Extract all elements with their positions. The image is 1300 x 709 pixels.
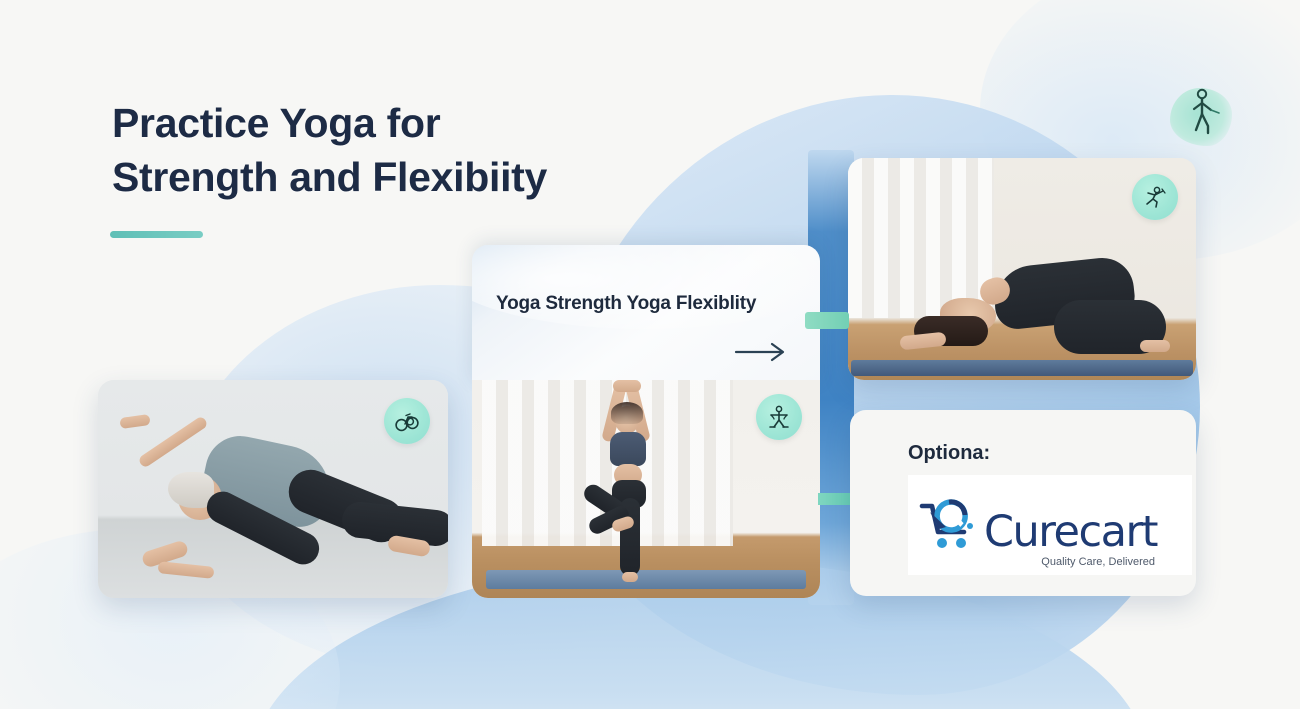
standing-person-icon — [766, 404, 792, 430]
optional-logo-card[interactable]: Optiona: Curecart Quality Care, Delivere… — [850, 410, 1196, 596]
card-sheen — [472, 245, 820, 329]
cycling-icon — [394, 408, 420, 434]
tree-pose-photo[interactable] — [472, 380, 820, 598]
running-person-icon-badge — [1132, 174, 1178, 220]
center-card-title: Yoga Strength Yoga Flexiblity — [496, 293, 756, 315]
walking-person-icon — [1186, 86, 1226, 138]
connector-chip — [805, 312, 849, 329]
brand-name: Curecart — [984, 511, 1157, 554]
brand-logo-plate: Curecart Quality Care, Delivered — [908, 475, 1192, 575]
fish-pose-photo[interactable] — [848, 158, 1196, 380]
cycling-icon-badge — [384, 398, 430, 444]
standing-person-icon-badge — [756, 394, 802, 440]
page-title: Practice Yoga for Strength and Flexibiit… — [112, 96, 547, 204]
optional-label: Optiona: — [908, 442, 990, 465]
arrow-right-icon[interactable] — [734, 341, 790, 363]
running-person-icon — [1142, 184, 1168, 210]
center-info-card[interactable]: Yoga Strength Yoga Flexiblity — [472, 245, 820, 385]
brand-tagline: Quality Care, Delivered — [1041, 556, 1155, 568]
senior-woman-side-bend-photo[interactable] — [98, 380, 448, 598]
shopping-cart-c-icon — [918, 496, 980, 554]
title-underline-rule — [110, 231, 203, 238]
